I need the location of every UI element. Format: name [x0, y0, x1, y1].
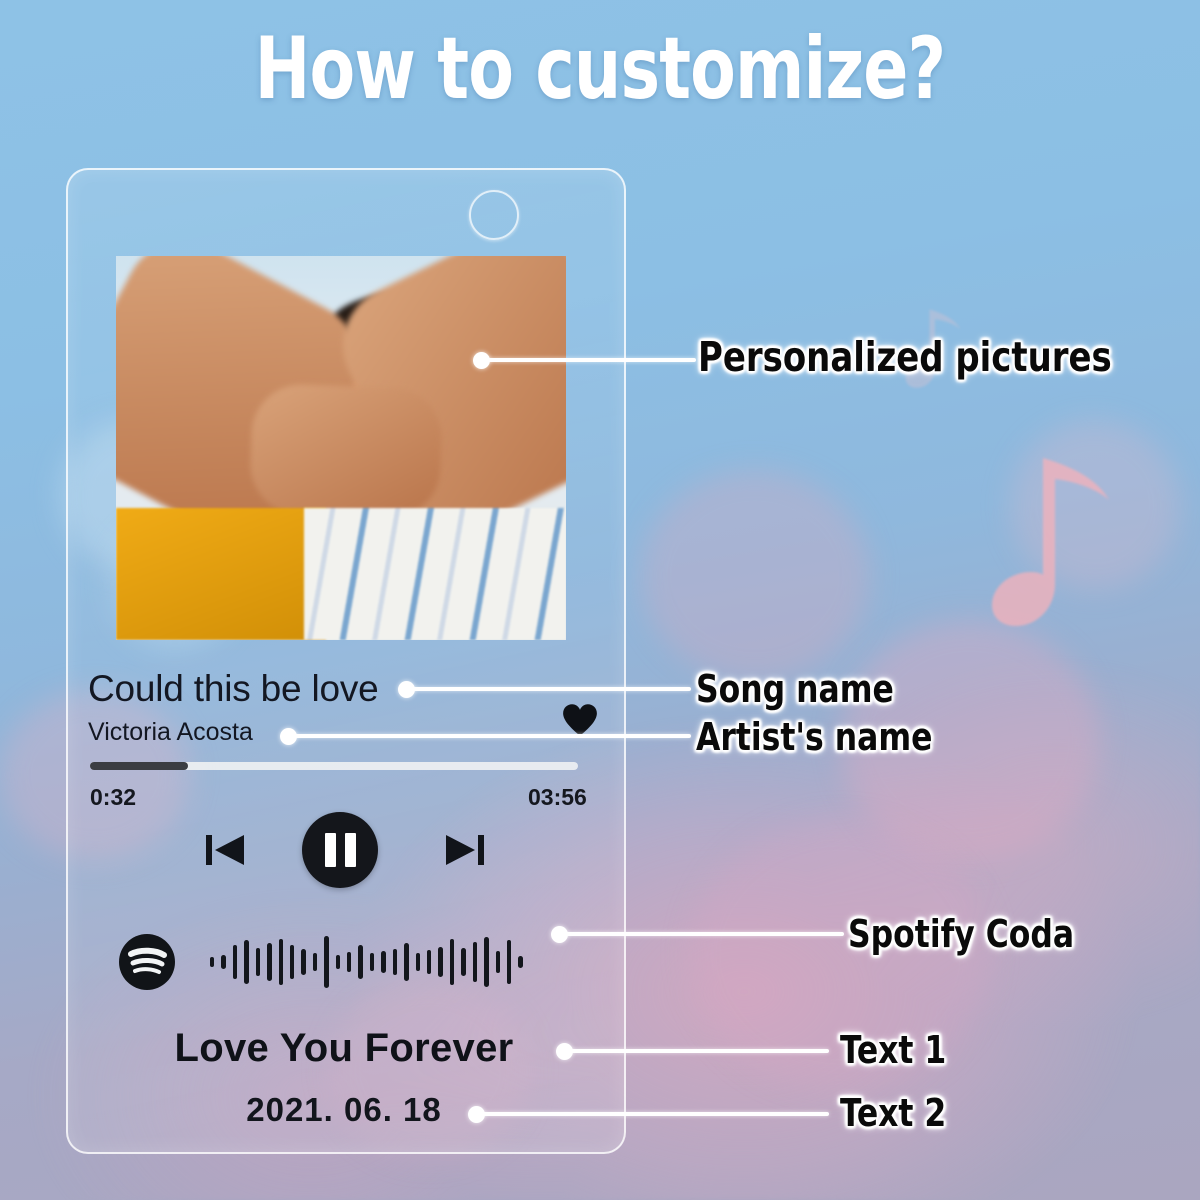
- spotify-scan-code[interactable]: [210, 928, 530, 996]
- music-note-icon: [980, 440, 1130, 650]
- photo-fingers-center: [249, 383, 443, 520]
- spotify-code-bar: [427, 950, 431, 974]
- spotify-code-bar: [244, 940, 248, 984]
- hanging-hole: [469, 190, 519, 240]
- callout-line-text-2: [479, 1112, 829, 1116]
- callout-line-personalized-pictures: [484, 358, 696, 362]
- heart-icon[interactable]: [562, 703, 598, 737]
- spotify-code-bar: [221, 955, 225, 969]
- spotify-code-bar: [381, 951, 385, 973]
- photo-shirt-yellow: [116, 508, 326, 640]
- bokeh-circle: [640, 470, 870, 680]
- spotify-code-bar: [313, 953, 317, 971]
- callout-spotify-coda: Spotify Coda: [848, 912, 1074, 956]
- spotify-code-bar: [484, 937, 488, 987]
- spotify-code-bar: [347, 952, 351, 972]
- spotify-code-bar: [358, 945, 362, 979]
- spotify-code-bar: [404, 943, 408, 981]
- callout-song-name: Song name: [696, 667, 894, 711]
- spotify-code-bar: [518, 956, 522, 968]
- callout-text-2: Text 2: [840, 1091, 946, 1135]
- spotify-code-bar: [336, 955, 340, 969]
- custom-text-2: 2021. 06. 18: [66, 1091, 622, 1129]
- pause-bar: [345, 833, 356, 867]
- callout-line-artists-name: [291, 734, 691, 738]
- callout-line-spotify-coda: [562, 932, 844, 936]
- spotify-logo-icon: [118, 933, 176, 991]
- spotify-code-bar: [473, 942, 477, 982]
- infographic-canvas: How to customize? Could this be love Vic…: [0, 0, 1200, 1200]
- photo-shirt-striped: [304, 508, 566, 640]
- callout-text-1: Text 1: [840, 1028, 946, 1072]
- spotify-code-bar: [507, 940, 511, 984]
- spotify-code-bar: [256, 948, 260, 976]
- page-title: How to customize?: [84, 26, 1116, 112]
- callout-personalized-pictures: Personalized pictures: [698, 333, 1112, 381]
- spotify-code-bar: [324, 936, 328, 988]
- spotify-code-bar: [370, 953, 374, 971]
- spotify-code-bar: [450, 939, 454, 985]
- next-track-icon[interactable]: [444, 830, 486, 870]
- custom-text-1: Love You Forever: [66, 1026, 622, 1071]
- spotify-code-bar: [279, 939, 283, 985]
- time-elapsed: 0:32: [90, 784, 136, 811]
- pause-button[interactable]: [302, 812, 378, 888]
- spotify-code-bar: [496, 951, 500, 973]
- artist-name-text: Victoria Acosta: [88, 718, 253, 747]
- progress-bar[interactable]: [90, 762, 578, 770]
- personalized-photo: [116, 256, 566, 640]
- previous-track-icon[interactable]: [204, 830, 246, 870]
- callout-line-text-1: [567, 1049, 829, 1053]
- spotify-code-bar: [210, 957, 214, 967]
- song-name-text: Could this be love: [88, 668, 379, 710]
- spotify-code-bar: [416, 953, 420, 971]
- spotify-code-bar: [438, 947, 442, 977]
- progress-fill: [90, 762, 188, 770]
- spotify-code-bar: [233, 945, 237, 979]
- pause-bar: [325, 833, 336, 867]
- spotify-code-bar: [301, 949, 305, 975]
- spotify-code-bar: [461, 948, 465, 976]
- callout-artists-name: Artist's name: [696, 715, 932, 759]
- spotify-code-bar: [267, 943, 271, 981]
- time-total: 03:56: [528, 784, 587, 811]
- spotify-code-bar: [393, 949, 397, 975]
- callout-line-song-name: [409, 687, 691, 691]
- spotify-code-bar: [290, 945, 294, 979]
